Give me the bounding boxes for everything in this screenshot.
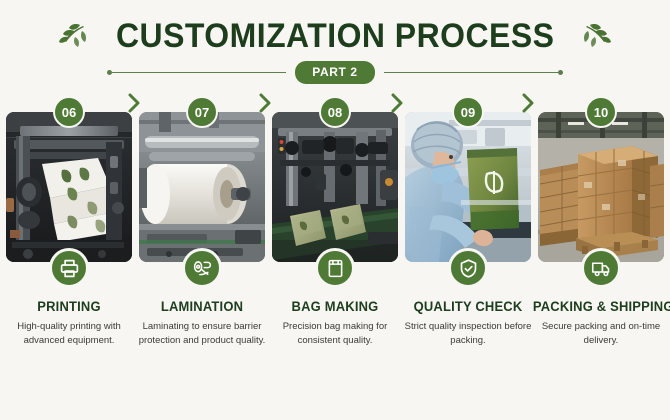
step-description: Strict quality inspection before packing… <box>399 320 537 348</box>
step-title: BAG MAKING <box>267 299 403 314</box>
part-badge: PART 2 <box>295 61 374 84</box>
step-number-badge: 08 <box>319 96 351 128</box>
page-header: CUSTOMIZATION PROCESS PART 2 <box>0 0 670 92</box>
step-title: QUALITY CHECK <box>400 299 536 314</box>
leaf-sprig-icon <box>580 19 614 53</box>
step-number-badge: 06 <box>53 96 85 128</box>
quality-inspection-photo <box>405 112 531 262</box>
delivery-truck-icon <box>581 248 621 288</box>
pouch-bag-icon <box>315 248 355 288</box>
chevron-right-icon <box>127 92 141 114</box>
step-number-badge: 09 <box>452 96 484 128</box>
divider-row: PART 2 <box>0 60 670 84</box>
step-description: Secure packing and on-time delivery. <box>532 320 670 348</box>
step-title: PACKING & SHIPPING <box>533 299 669 314</box>
printing-press-photo <box>6 112 132 262</box>
step-title: LAMINATION <box>134 299 270 314</box>
divider-dot-right <box>558 70 563 75</box>
title-row: CUSTOMIZATION PROCESS <box>0 14 670 58</box>
step-title: PRINTING <box>1 299 137 314</box>
process-steps: 06 <box>0 96 670 420</box>
shield-check-icon <box>448 248 488 288</box>
step-card-lamination[interactable]: 07 <box>139 96 265 420</box>
leaf-sprig-icon <box>56 19 90 53</box>
bag-making-machine-photo <box>272 112 398 262</box>
divider-line-left <box>112 72 286 73</box>
film-roll-icon <box>182 248 222 288</box>
step-description: Precision bag making for consistent qual… <box>266 320 404 348</box>
chevron-right-icon <box>258 92 272 114</box>
step-description: High-quality printing with advanced equi… <box>0 320 138 348</box>
laminating-machine-photo <box>139 112 265 262</box>
warehouse-pallets-photo <box>538 112 664 262</box>
divider-line-right <box>384 72 558 73</box>
chevron-right-icon <box>390 92 404 114</box>
step-card-quality-check[interactable]: 09 <box>405 96 531 420</box>
step-number-badge: 07 <box>186 96 218 128</box>
step-description: Laminating to ensure barrier protection … <box>133 320 271 348</box>
step-number-badge: 10 <box>585 96 617 128</box>
step-card-bag-making[interactable]: 08 <box>272 96 398 420</box>
page-title: CUSTOMIZATION PROCESS <box>116 17 554 55</box>
chevron-right-icon <box>521 92 535 114</box>
printer-icon <box>49 248 89 288</box>
step-card-packing-shipping[interactable]: 10 <box>538 96 664 420</box>
step-card-printing[interactable]: 06 <box>6 96 132 420</box>
